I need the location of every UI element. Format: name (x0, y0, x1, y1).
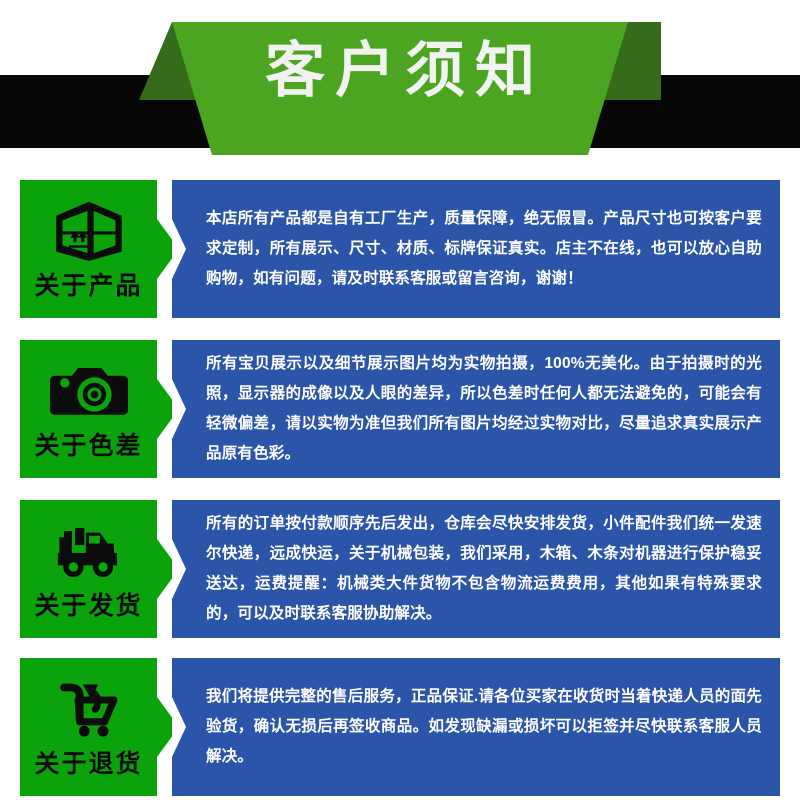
notice-text-return: 我们将提供完整的售后服务，正品保证.请各位买家在收货时当着快递人员的面先验货，确… (206, 682, 762, 772)
notice-row-shipping: 关于发货 所有的订单按付款顺序先后发出，仓库会尽快安排发货，小件配件我们统一发速… (0, 500, 800, 638)
card-return[interactable]: 关于退货 (20, 658, 157, 796)
panel-body-shipping: 所有的订单按付款顺序先后发出，仓库会尽快安排发货，小件配件我们统一发速尔快递，远… (206, 500, 762, 638)
panel-notch-shipping (172, 539, 186, 599)
card-label-shipping: 关于发货 (34, 588, 142, 624)
forklift-truck-icon (50, 514, 128, 584)
notice-text-product: 本店所有产品都是自有工厂生产，质量保障，绝无假冒。产品尺寸也可按客户要求定制，所… (206, 204, 762, 294)
card-product[interactable]: 关于产品 (20, 180, 157, 318)
card-label-return: 关于退货 (34, 746, 142, 782)
notice-row-color: 关于色差 所有宝贝展示以及细节展示图片均为实物拍摄，100%无美化。由于拍摄时的… (0, 340, 800, 478)
panel-color: 所有宝贝展示以及细节展示图片均为实物拍摄，100%无美化。由于拍摄时的光照，显示… (172, 340, 780, 478)
notice-row-product: 关于产品 本店所有产品都是自有工厂生产，质量保障，绝无假冒。产品尺寸也可按客户要… (0, 180, 800, 318)
card-color[interactable]: 关于色差 (20, 340, 157, 478)
page-title: 客户须知 (0, 34, 800, 108)
card-label-color: 关于色差 (34, 428, 142, 464)
panel-body-product: 本店所有产品都是自有工厂生产，质量保障，绝无假冒。产品尺寸也可按客户要求定制，所… (206, 180, 762, 318)
card-label-product: 关于产品 (34, 268, 142, 304)
notice-text-color: 所有宝贝展示以及细节展示图片均为实物拍摄，100%无美化。由于拍摄时的光照，显示… (206, 349, 762, 469)
panel-notch-color (172, 379, 186, 439)
panel-product: 本店所有产品都是自有工厂生产，质量保障，绝无假冒。产品尺寸也可按客户要求定制，所… (172, 180, 780, 318)
customer-notice-page: 客户须知 关于产品 (0, 0, 800, 800)
panel-body-return: 我们将提供完整的售后服务，正品保证.请各位买家在收货时当着快递人员的面先验货，确… (206, 658, 762, 796)
return-cart-icon (50, 672, 128, 742)
notice-row-return: 关于退货 我们将提供完整的售后服务，正品保证.请各位买家在收货时当着快递人员的面… (0, 658, 800, 796)
notice-text-shipping: 所有的订单按付款顺序先后发出，仓库会尽快安排发货，小件配件我们统一发速尔快递，远… (206, 509, 762, 629)
package-box-icon (50, 194, 128, 264)
panel-shipping: 所有的订单按付款顺序先后发出，仓库会尽快安排发货，小件配件我们统一发速尔快递，远… (172, 500, 780, 638)
panel-notch-product (172, 219, 186, 279)
panel-body-color: 所有宝贝展示以及细节展示图片均为实物拍摄，100%无美化。由于拍摄时的光照，显示… (206, 340, 762, 478)
camera-icon (50, 354, 128, 424)
card-shipping[interactable]: 关于发货 (20, 500, 157, 638)
page-header: 客户须知 (0, 0, 800, 168)
panel-notch-return (172, 697, 186, 757)
panel-return: 我们将提供完整的售后服务，正品保证.请各位买家在收货时当着快递人员的面先验货，确… (172, 658, 780, 796)
